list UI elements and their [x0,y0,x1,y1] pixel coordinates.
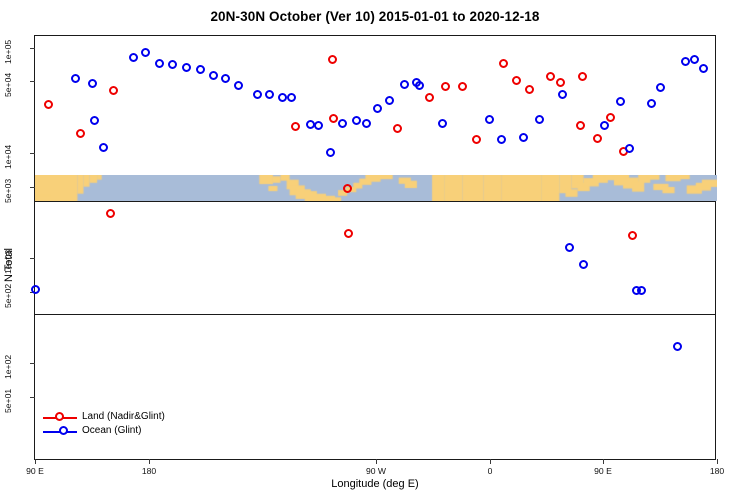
x-tick-label: 0 [488,466,493,476]
data-point-ocean [690,55,699,64]
data-point-ocean [196,65,205,74]
data-point-ocean [209,71,218,80]
data-point-land [628,231,637,240]
data-point-land [44,100,53,109]
data-point-land [344,229,353,238]
y-tick [30,363,35,364]
data-point-ocean [99,143,108,152]
data-point-ocean [71,74,80,83]
x-tick-label: 90 E [594,466,612,476]
data-point-ocean [182,63,191,72]
data-point-ocean [352,116,361,125]
data-point-land [576,121,585,130]
y-tick [30,81,35,82]
data-point-ocean [265,90,274,99]
data-point-land [425,93,434,102]
data-point-ocean [155,59,164,68]
x-tick-label: 180 [710,466,724,476]
data-point-ocean [400,80,409,89]
data-point-ocean [681,57,690,66]
data-point-ocean [326,148,335,157]
chart-title: 20N-30N October (Ver 10) 2015-01-01 to 2… [0,9,750,24]
data-point-land [106,209,115,218]
data-point-land [458,82,467,91]
data-point-ocean [616,97,625,106]
data-point-land [606,113,615,122]
data-point-land [109,86,118,95]
data-point-land [291,122,300,131]
x-tick [717,459,718,464]
data-point-land [578,72,587,81]
plot-area: 1e+055e+041e+045e+031e+035e+021e+025e+01… [34,35,716,460]
y-tick-label: 5e+01 [3,381,13,413]
data-point-land [76,129,85,138]
y-tick-label: 1e+03 [3,242,13,274]
data-point-ocean [497,135,506,144]
data-point-land [499,59,508,68]
data-point-ocean [673,342,682,351]
data-point-ocean [415,81,424,90]
data-point-ocean [278,93,287,102]
data-point-ocean [287,93,296,102]
x-tick [490,459,491,464]
data-point-ocean [141,48,150,57]
y-tick-label: 5e+02 [3,276,13,308]
data-point-land [343,184,352,193]
legend: Land (Nadir&Glint) Ocean (Glint) [42,410,165,438]
data-point-ocean [637,286,646,295]
y-tick-label: 1e+02 [3,347,13,379]
y-tick [30,258,35,259]
data-point-ocean [656,83,665,92]
data-point-ocean [579,260,588,269]
data-point-land [441,82,450,91]
data-point-ocean [699,64,708,73]
data-point-ocean [565,243,574,252]
data-point-ocean [338,119,347,128]
x-tick-label: 90 E [26,466,44,476]
y-tick [30,48,35,49]
x-tick [376,459,377,464]
data-point-ocean [168,60,177,69]
x-tick [35,459,36,464]
data-point-ocean [485,115,494,124]
data-point-land [328,55,337,64]
data-point-ocean [129,53,138,62]
data-point-land [593,134,602,143]
panel-divider [35,201,715,202]
x-axis-label: Longitude (deg E) [0,478,750,490]
data-point-land [556,78,565,87]
x-tick-label: 180 [142,466,156,476]
x-tick-label: 90 W [366,466,386,476]
data-point-ocean [31,285,40,294]
legend-item-land[interactable]: Land (Nadir&Glint) [42,410,165,424]
data-point-land [329,114,338,123]
data-point-land [472,135,481,144]
y-tick [30,397,35,398]
data-point-ocean [234,81,243,90]
data-point-ocean [625,144,634,153]
chart-canvas: 20N-30N October (Ver 10) 2015-01-01 to 2… [0,0,750,500]
data-point-ocean [438,119,447,128]
data-point-ocean [647,99,656,108]
x-tick [603,459,604,464]
data-point-ocean [373,104,382,113]
data-point-land [525,85,534,94]
data-point-ocean [90,116,99,125]
world-map-mask [35,175,717,201]
legend-item-ocean[interactable]: Ocean (Glint) [42,424,165,438]
panel-divider [35,314,715,315]
y-tick-label: 5e+04 [3,65,13,97]
data-point-ocean [600,121,609,130]
data-point-land [546,72,555,81]
data-point-ocean [362,119,371,128]
y-tick-label: 1e+05 [3,32,13,64]
y-tick-label: 5e+03 [3,171,13,203]
data-point-ocean [385,96,394,105]
legend-label-ocean: Ocean (Glint) [82,424,141,438]
data-point-ocean [253,90,262,99]
data-point-ocean [519,133,528,142]
land-ocean-map-strip [35,175,717,201]
data-point-ocean [558,90,567,99]
y-tick [30,153,35,154]
data-point-land [512,76,521,85]
legend-label-land: Land (Nadir&Glint) [82,410,165,424]
data-point-land [393,124,402,133]
legend-marker-ocean-icon [42,425,78,437]
legend-marker-land-icon [42,411,78,423]
y-tick-label: 1e+04 [3,137,13,169]
data-point-ocean [314,121,323,130]
x-tick [149,459,150,464]
data-point-ocean [221,74,230,83]
data-point-ocean [535,115,544,124]
data-point-ocean [88,79,97,88]
